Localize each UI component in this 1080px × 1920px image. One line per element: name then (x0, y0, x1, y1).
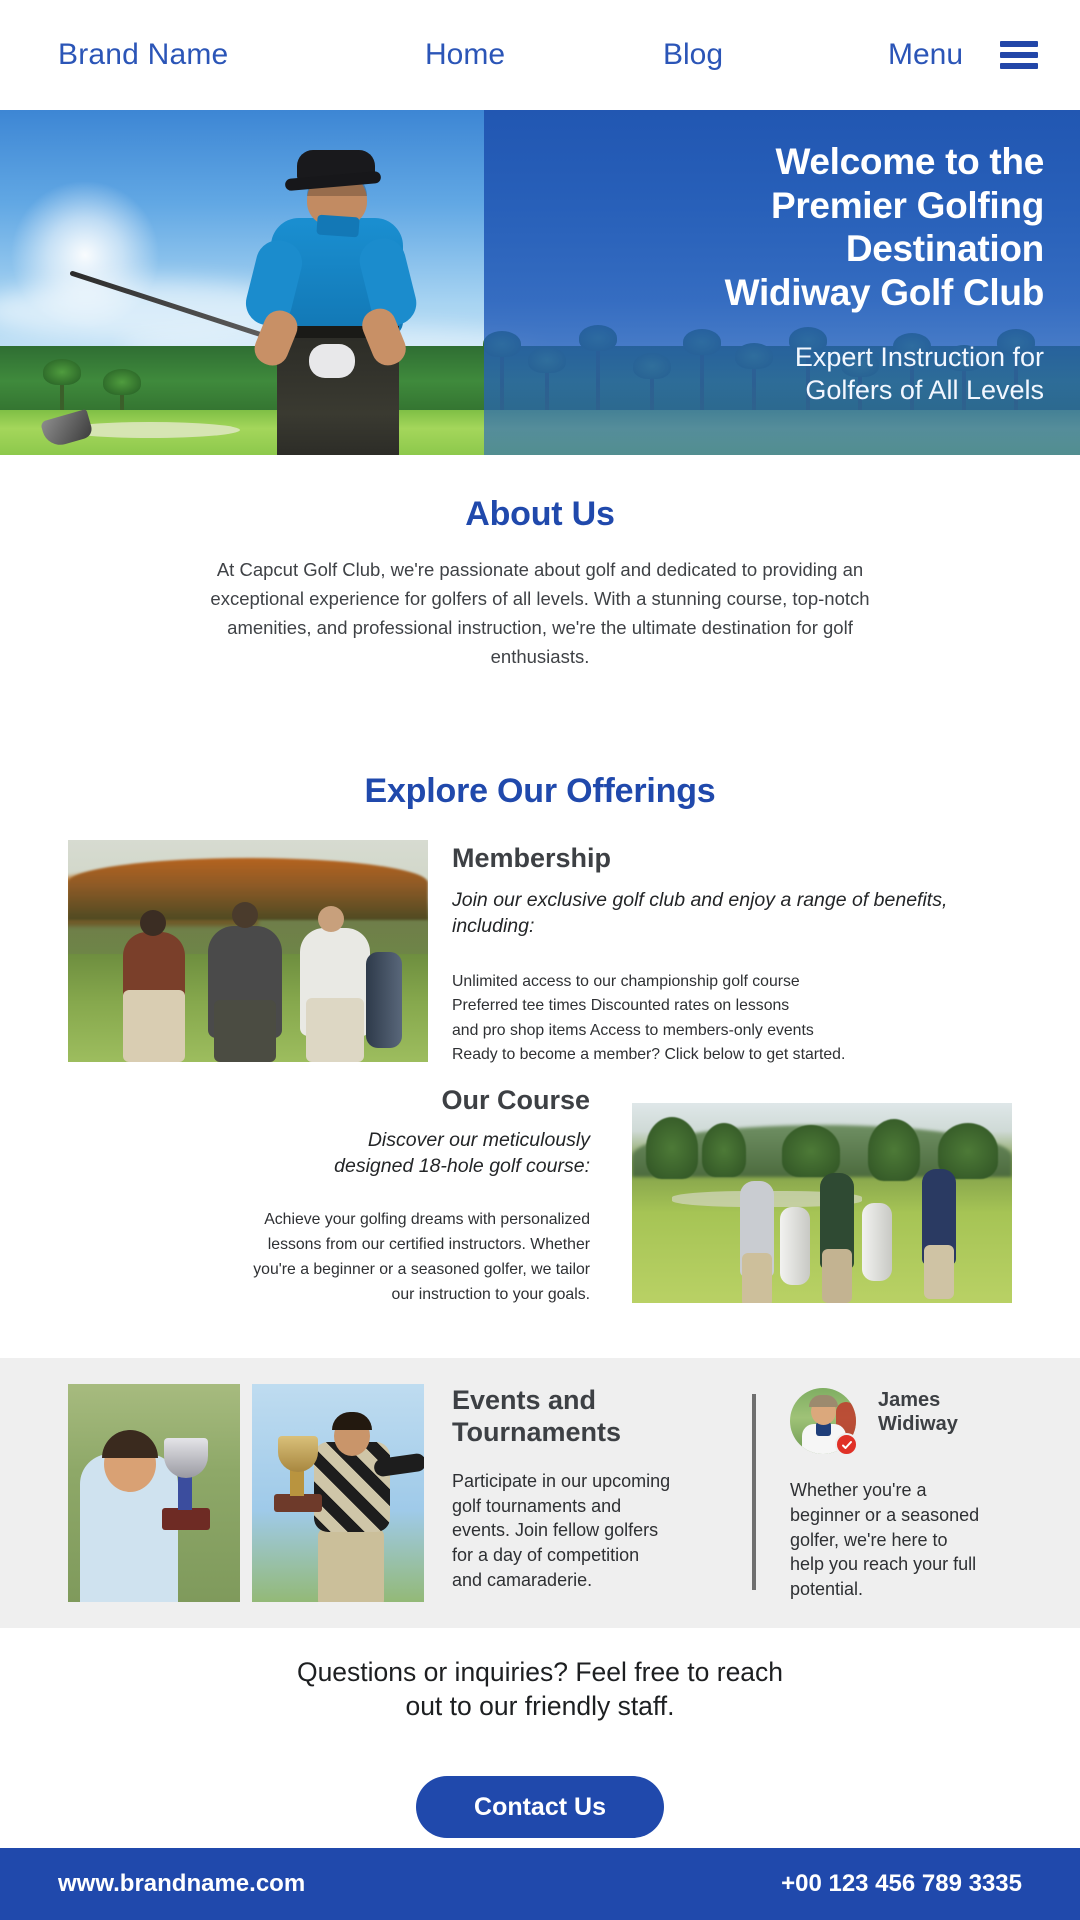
offerings-heading: Explore Our Offerings (0, 772, 1080, 811)
golfer-gloved-hands (309, 344, 355, 378)
testimonial-quote: Whether you're a beginner or a seasoned … (790, 1478, 1005, 1602)
course-image (632, 1103, 1012, 1303)
membership-title: Membership (452, 843, 1012, 874)
hamburger-icon[interactable] (1000, 41, 1038, 69)
verified-check-icon (835, 1433, 858, 1456)
landing-page: Brand Name Home Blog Menu (0, 0, 1080, 1920)
events-image-trophy-portrait (68, 1384, 240, 1602)
events-body: Participate in our upcoming golf tournam… (452, 1469, 682, 1593)
avatar (790, 1388, 856, 1454)
membership-lead: Join our exclusive golf club and enjoy a… (452, 888, 1012, 940)
hamburger-bar (1000, 52, 1038, 58)
hero-title: Welcome to the Premier Golfing Destinati… (504, 140, 1044, 315)
golfer-collar (316, 215, 359, 238)
nav-item-blog[interactable]: Blog (663, 38, 723, 72)
hamburger-bar (1000, 63, 1038, 69)
footer-website[interactable]: www.brandname.com (58, 1870, 305, 1898)
events-section: Events and Tournaments Participate in ou… (0, 1358, 1080, 1628)
about-body-text: At Capcut Golf Club, we're passionate ab… (195, 556, 885, 671)
course-title: Our Course (130, 1085, 590, 1116)
vertical-divider (752, 1394, 756, 1590)
hero-subtitle: Expert Instruction for Golfers of All Le… (504, 341, 1044, 407)
membership-block: Membership Join our exclusive golf club … (0, 835, 1080, 1065)
membership-text: Membership Join our exclusive golf club … (452, 843, 1012, 1068)
contact-us-button[interactable]: Contact Us (416, 1776, 664, 1838)
events-text: Events and Tournaments Participate in ou… (452, 1384, 682, 1593)
membership-benefits: Unlimited access to our championship gol… (452, 970, 1012, 1068)
about-heading: About Us (0, 495, 1080, 534)
site-header: Brand Name Home Blog Menu (0, 0, 1080, 110)
nav-item-home[interactable]: Home (425, 38, 505, 72)
events-image-trophy-raised (252, 1384, 424, 1602)
footer-phone[interactable]: +00 123 456 789 3335 (781, 1870, 1022, 1898)
hero-text-block: Welcome to the Premier Golfing Destinati… (504, 110, 1064, 455)
contact-section: Questions or inquiries? Feel free to rea… (0, 1628, 1080, 1850)
nav-item-menu[interactable]: Menu (888, 38, 963, 72)
brand-logo-text[interactable]: Brand Name (58, 38, 228, 72)
course-lead: Discover our meticulously designed 18-ho… (130, 1128, 590, 1180)
hamburger-bar (1000, 41, 1038, 47)
site-footer: www.brandname.com +00 123 456 789 3335 (0, 1848, 1080, 1920)
membership-image (68, 840, 428, 1062)
contact-prompt: Questions or inquiries? Feel free to rea… (220, 1656, 860, 1724)
testimonial-author-name: James Widiway (878, 1388, 1038, 1436)
course-block: Our Course Discover our meticulously des… (0, 1085, 1080, 1325)
golfer-figure (225, 128, 465, 455)
course-body: Achieve your golfing dreams with persona… (130, 1208, 590, 1308)
course-text: Our Course Discover our meticulously des… (130, 1085, 590, 1308)
events-title: Events and Tournaments (452, 1384, 682, 1449)
hero-banner: Welcome to the Premier Golfing Destinati… (0, 110, 1080, 455)
about-section: About Us At Capcut Golf Club, we're pass… (0, 455, 1080, 671)
